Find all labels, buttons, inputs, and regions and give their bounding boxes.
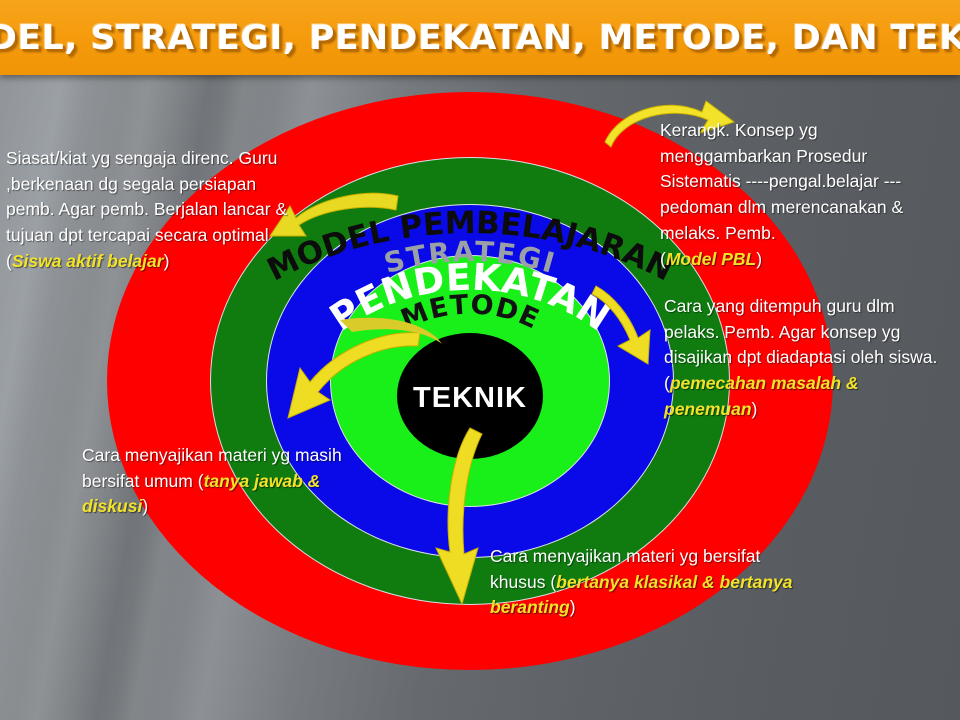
callout-model-highlight: Model PBL xyxy=(666,249,756,269)
callout-model-body: Kerangk. Konsep yg menggambarkan Prosedu… xyxy=(660,120,903,243)
callout-strategi: Siasat/kiat yg sengaja direnc. Guru ,ber… xyxy=(6,146,306,275)
callout-model: Kerangk. Konsep yg menggambarkan Prosedu… xyxy=(660,118,952,272)
arrow-pendekatan-to-callout xyxy=(288,318,442,418)
callout-teknik-paren-close: ) xyxy=(570,597,576,617)
page-title: MODEL, STRATEGI, PENDEKATAN, METODE, DAN… xyxy=(0,18,960,58)
callout-metode-paren-close: ) xyxy=(752,399,758,419)
callout-pendekatan: Cara menyajikan materi yg masih bersifat… xyxy=(82,443,382,520)
callout-metode-highlight: pemecahan masalah & penemuan xyxy=(664,373,859,419)
title-bar: MODEL, STRATEGI, PENDEKATAN, METODE, DAN… xyxy=(0,0,960,75)
callout-strategi-highlight: Siswa aktif belajar xyxy=(12,251,164,271)
callout-metode: Cara yang ditempuh guru dlm pelaks. Pemb… xyxy=(664,294,952,423)
callout-model-paren-close: ) xyxy=(756,249,762,269)
callout-metode-body: Cara yang ditempuh guru dlm pelaks. Pemb… xyxy=(664,296,937,367)
callout-strategi-body: Siasat/kiat yg sengaja direnc. Guru ,ber… xyxy=(6,148,287,245)
callout-teknik: Cara menyajikan materi yg bersifat khusu… xyxy=(490,544,800,621)
arrow-metode-to-callout xyxy=(592,286,650,364)
arrow-teknik-to-callout xyxy=(436,428,482,604)
callout-strategi-paren-close: ) xyxy=(164,251,170,271)
slide-canvas: MODEL, STRATEGI, PENDEKATAN, METODE, DAN… xyxy=(0,0,960,720)
callout-pendekatan-paren-close: ) xyxy=(142,496,148,516)
